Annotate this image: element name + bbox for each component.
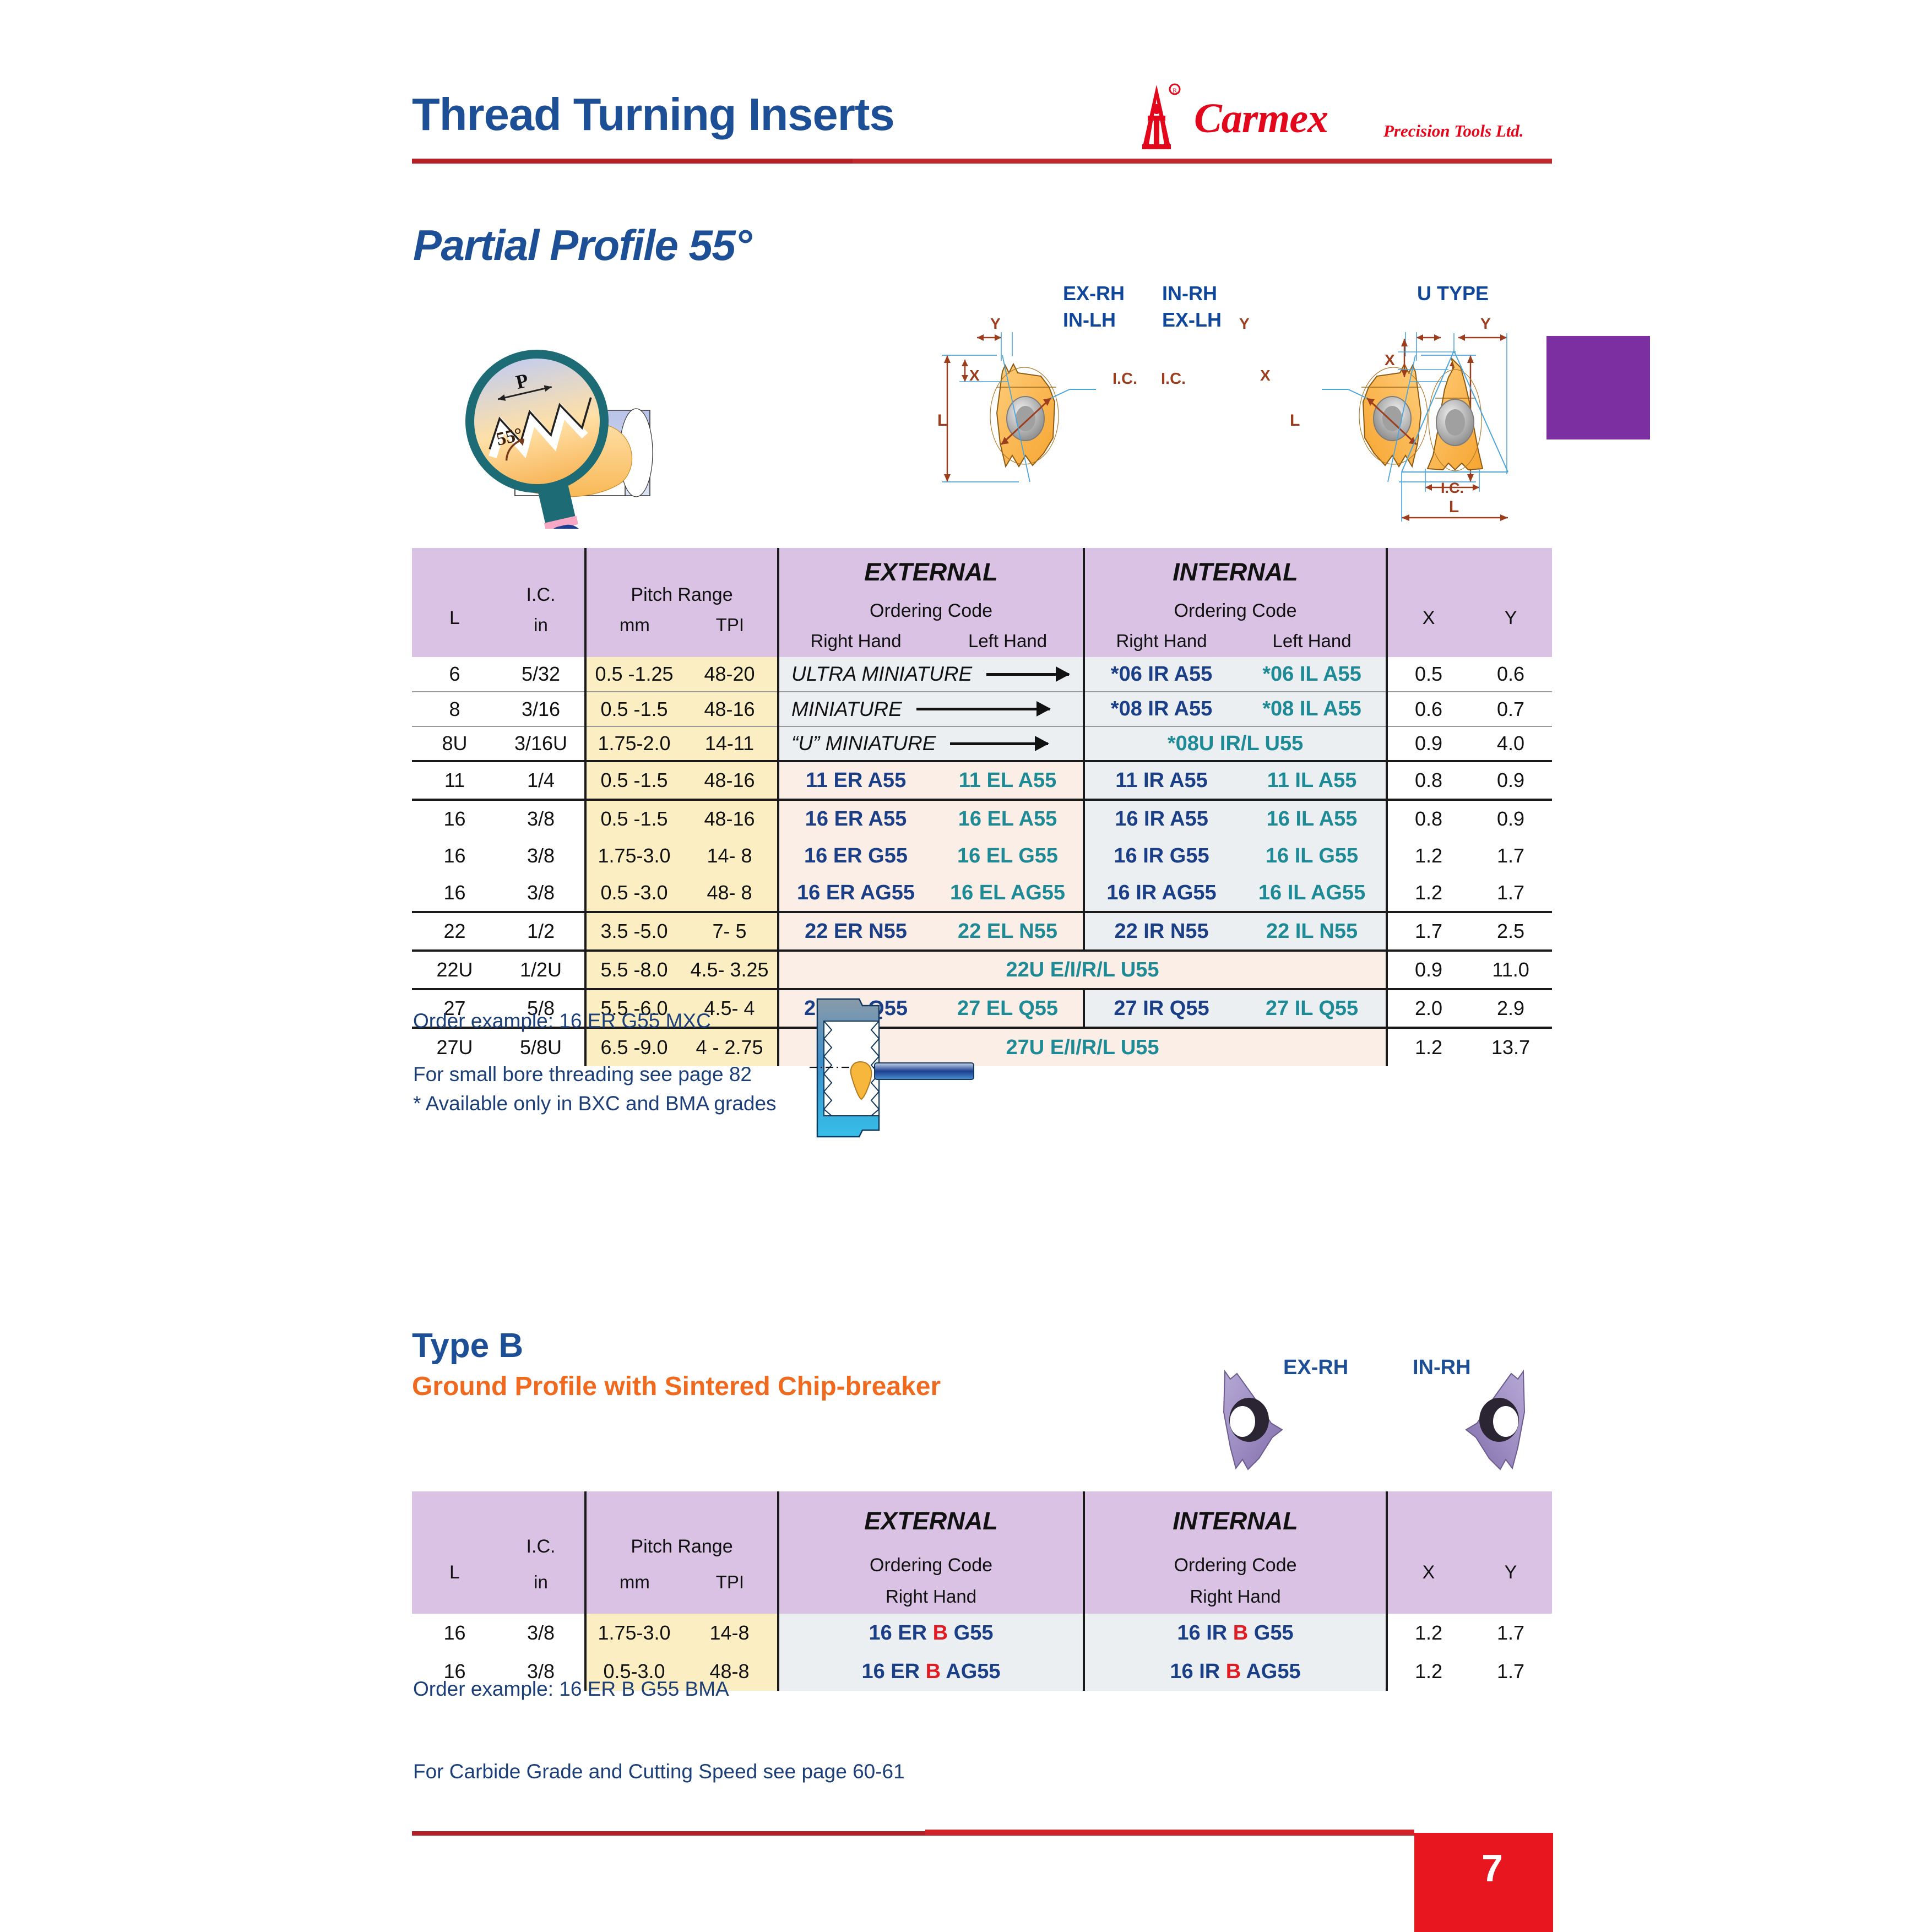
- table-row: 16 3/8 1.75-3.0 14- 8 16 ER G55 16 EL G5…: [412, 837, 1552, 875]
- cell-l: 16: [412, 800, 497, 837]
- svg-text:X: X: [1260, 367, 1271, 384]
- section-title-type-b: Type B: [412, 1326, 523, 1365]
- cell-mm: 6.5 -9.0: [585, 1028, 682, 1066]
- carmex-logo: R Carmex Precision Tools Ltd.: [1124, 83, 1553, 157]
- cell-l: 6: [412, 657, 497, 692]
- cell-tpi: 4 - 2.75: [682, 1028, 778, 1066]
- brand-name: Carmex: [1194, 95, 1328, 143]
- cell-mm: 0.5 -1.5: [585, 800, 682, 837]
- cell-x: 0.5: [1387, 657, 1469, 692]
- svg-text:Y: Y: [990, 315, 1001, 332]
- cell-l: 16: [412, 875, 497, 912]
- th-external: EXTERNAL: [778, 1491, 1084, 1551]
- cell-ic: 5/8U: [497, 1028, 585, 1066]
- svg-text:I.C.: I.C.: [1161, 370, 1186, 388]
- cell-y: 0.9: [1469, 800, 1552, 837]
- cell-tpi: 48-16: [682, 692, 778, 726]
- cell-tpi: 14-8: [682, 1614, 778, 1652]
- cell-ic: 3/16: [497, 692, 585, 726]
- asterisk-note: * Available only in BXC and BMA grades: [413, 1092, 777, 1115]
- cell-tpi: 14-11: [682, 726, 778, 761]
- cell-y: 0.6: [1469, 657, 1552, 692]
- cell-int-rh: 11 IR A55: [1084, 761, 1238, 800]
- table-row: 8 3/16 0.5 -1.5 48-16 MINIATURE *08 IR A…: [412, 692, 1552, 726]
- svg-text:R: R: [1173, 86, 1177, 94]
- section-title-partial-profile: Partial Profile 55°: [413, 220, 751, 270]
- cell-ic: 3/8: [497, 875, 585, 912]
- cell-int-lh: *08 IL A55: [1238, 692, 1387, 726]
- svg-text:L: L: [1449, 498, 1459, 516]
- cell-x: 0.9: [1387, 951, 1469, 989]
- section-subtitle-type-b: Ground Profile with Sintered Chip-breake…: [412, 1371, 941, 1402]
- th-ext-rh: Right Hand: [778, 625, 932, 657]
- th-ext-lh: Left Hand: [932, 625, 1084, 657]
- th-internal-ordering: Ordering Code: [1084, 1551, 1387, 1580]
- table-row: 22 1/2 3.5 -5.0 7- 5 22 ER N55 22 EL N55…: [412, 912, 1552, 951]
- cell-all-full: 22U E/I/R/L U55: [778, 951, 1387, 989]
- th-internal-ordering: Ordering Code: [1084, 596, 1387, 625]
- cell-tpi: 14- 8: [682, 837, 778, 875]
- cell-ic: 1/4: [497, 761, 585, 800]
- cell-int-rh: 16 IR A55: [1084, 800, 1238, 837]
- table-row: 22U 1/2U 5.5 -8.0 4.5- 3.25 22U E/I/R/L …: [412, 951, 1552, 989]
- cell-tpi: 4.5- 3.25: [682, 951, 778, 989]
- table-row: 11 1/4 0.5 -1.5 48-16 11 ER A55 11 EL A5…: [412, 761, 1552, 800]
- bore-threading-illustration: [810, 997, 1041, 1140]
- cell-int-rh: 16 IR AG55: [1084, 875, 1238, 912]
- cell-ic: 3/8: [497, 800, 585, 837]
- cell-y: 0.7: [1469, 692, 1552, 726]
- cell-int-lh: 22 IL N55: [1238, 912, 1387, 951]
- th-l: L: [412, 1491, 497, 1614]
- cell-span-note: “U” MINIATURE: [778, 726, 1084, 761]
- cell-tpi: 48-16: [682, 761, 778, 800]
- th-int-rh: Right Hand: [1084, 625, 1238, 657]
- cell-x: 0.6: [1387, 692, 1469, 726]
- svg-text:Y: Y: [1480, 315, 1491, 332]
- table-row: 16 3/8 0.5 -3.0 48- 8 16 ER AG55 16 EL A…: [412, 875, 1552, 912]
- cell-y: 4.0: [1469, 726, 1552, 761]
- th-ic: I.C. in: [497, 1491, 585, 1614]
- cell-ic: 1/2: [497, 912, 585, 951]
- cell-ext-lh: 11 EL A55: [932, 761, 1084, 800]
- cell-int-lh: *06 IL A55: [1238, 657, 1387, 692]
- cell-int-rh: *08 IR A55: [1084, 692, 1238, 726]
- cell-int-rh: 22 IR N55: [1084, 912, 1238, 951]
- cell-x: 1.2: [1387, 837, 1469, 875]
- insert-dimension-diagrams: I.C. L X Y: [931, 306, 1553, 537]
- cell-mm: 3.5 -5.0: [585, 912, 682, 951]
- cell-span-note: ULTRA MINIATURE: [778, 657, 1084, 692]
- th-ic: I.C. in: [497, 548, 585, 657]
- cell-y: 2.5: [1469, 912, 1552, 951]
- cell-int-lh: 11 IL A55: [1238, 761, 1387, 800]
- cell-tpi: 48-20: [682, 657, 778, 692]
- cell-ic: 3/8: [497, 837, 585, 875]
- cell-l: 16: [412, 837, 497, 875]
- cell-tpi: 48-16: [682, 800, 778, 837]
- brand-subtitle: Precision Tools Ltd.: [1383, 121, 1524, 141]
- cell-y: 1.7: [1469, 1652, 1552, 1691]
- th-l: L: [412, 548, 497, 657]
- cell-ext-rh: 22 ER N55: [778, 912, 932, 951]
- page-title: Thread Turning Inserts: [412, 88, 894, 141]
- svg-text:Y: Y: [1239, 315, 1250, 332]
- cell-l: 8U: [412, 726, 497, 761]
- table-row: 16 3/8 0.5 -1.5 48-16 16 ER A55 16 EL A5…: [412, 800, 1552, 837]
- cell-mm: 0.5 -1.5: [585, 692, 682, 726]
- cell-l: 22U: [412, 951, 497, 989]
- cell-int-rh: 16 IR G55: [1084, 837, 1238, 875]
- cell-mm: 0.5 -1.25: [585, 657, 682, 692]
- cell-ic: 3/8: [497, 1614, 585, 1652]
- cell-x: 0.8: [1387, 761, 1469, 800]
- cell-l: 11: [412, 761, 497, 800]
- header-rule-accent: [853, 159, 1552, 164]
- cell-ic: 3/16U: [497, 726, 585, 761]
- cell-l: 8: [412, 692, 497, 726]
- cell-y: 1.7: [1469, 1614, 1552, 1652]
- cell-tpi: 48- 8: [682, 875, 778, 912]
- cell-x: 1.2: [1387, 1614, 1469, 1652]
- cell-l: 27U: [412, 1028, 497, 1066]
- color-swatch: [1546, 336, 1650, 439]
- insert-photo-in-rh: [1432, 1365, 1542, 1475]
- order-example-note: Order example: 16 ER G55 MXC: [413, 1010, 711, 1033]
- diagram-label-in-rh: IN-RH: [1162, 282, 1217, 305]
- cell-int-rh: 27 IR Q55: [1084, 989, 1238, 1028]
- th-pitch-range: Pitch Range mm TPI: [585, 548, 778, 657]
- table-row: 16 3/8 1.75-3.0 14-8 16 ER B G55 16 IR B…: [412, 1614, 1552, 1652]
- type-b-table: L I.C. in Pitch Range mm TPI EXTERNAL: [412, 1491, 1552, 1691]
- type-b-order-example-note: Order example: 16 ER B G55 BMA: [413, 1678, 729, 1701]
- cell-x: 2.0: [1387, 989, 1469, 1028]
- table-header: L I.C. in Pitch Range mm TPI EXTERNAL: [412, 548, 1552, 657]
- thread-profile-illustration: P 55°: [419, 308, 721, 529]
- svg-text:X: X: [969, 367, 980, 384]
- cell-l: 16: [412, 1614, 497, 1652]
- cell-x: 1.2: [1387, 875, 1469, 912]
- table-row: 6 5/32 0.5 -1.25 48-20 ULTRA MINIATURE *…: [412, 657, 1552, 692]
- cell-span-note: MINIATURE: [778, 692, 1084, 726]
- cell-ic: 5/32: [497, 657, 585, 692]
- cell-int-lh: 16 IL AG55: [1238, 875, 1387, 912]
- cell-ext-rh: 16 ER A55: [778, 800, 932, 837]
- th-pitch-range: Pitch Range mm TPI: [585, 1491, 778, 1614]
- th-x: X: [1387, 1491, 1469, 1614]
- cell-mm: 1.75-3.0: [585, 1614, 682, 1652]
- cell-x: 0.9: [1387, 726, 1469, 761]
- cell-mm: 0.5 -3.0: [585, 875, 682, 912]
- cell-int-full: *08U IR/L U55: [1084, 726, 1387, 761]
- cell-y: 2.9: [1469, 989, 1552, 1028]
- cell-int-rh: 16 IR B AG55: [1084, 1652, 1387, 1691]
- th-external-ordering: Ordering Code: [778, 596, 1084, 625]
- carbide-grade-note: For Carbide Grade and Cutting Speed see …: [413, 1760, 905, 1783]
- cell-mm: 0.5 -1.5: [585, 761, 682, 800]
- svg-text:L: L: [1290, 411, 1300, 430]
- cell-ext-rh: 16 ER AG55: [778, 875, 932, 912]
- cell-y: 1.7: [1469, 837, 1552, 875]
- cell-x: 1.2: [1387, 1028, 1469, 1066]
- cell-ext-lh: 16 EL AG55: [932, 875, 1084, 912]
- cell-l: 22: [412, 912, 497, 951]
- cell-mm: 1.75-2.0: [585, 726, 682, 761]
- svg-text:L: L: [937, 411, 947, 430]
- cell-x: 1.2: [1387, 1652, 1469, 1691]
- svg-text:X: X: [1385, 351, 1395, 368]
- svg-text:I.C.: I.C.: [1441, 480, 1464, 496]
- page-number: 7: [1481, 1846, 1503, 1890]
- th-x: X: [1387, 548, 1469, 657]
- cell-int-lh: 16 IL A55: [1238, 800, 1387, 837]
- cell-ext-lh: 16 EL G55: [932, 837, 1084, 875]
- cell-x: 0.8: [1387, 800, 1469, 837]
- cell-y: 0.9: [1469, 761, 1552, 800]
- cell-x: 1.7: [1387, 912, 1469, 951]
- cell-ext-rh: 16 ER B G55: [778, 1614, 1084, 1652]
- cell-ext-lh: 22 EL N55: [932, 912, 1084, 951]
- cell-int-lh: 16 IL G55: [1238, 837, 1387, 875]
- table-row: 8U 3/16U 1.75-2.0 14-11 “U” MINIATURE *0…: [412, 726, 1552, 761]
- cell-mm: 1.75-3.0: [585, 837, 682, 875]
- diagram-label-ex-rh: EX-RH: [1063, 282, 1125, 305]
- cell-mm: 5.5 -8.0: [585, 951, 682, 989]
- svg-text:I.C.: I.C.: [1112, 370, 1137, 388]
- th-external: EXTERNAL: [778, 548, 1084, 596]
- th-y: Y: [1469, 548, 1552, 657]
- cell-int-rh: *06 IR A55: [1084, 657, 1238, 692]
- cell-int-rh: 16 IR B G55: [1084, 1614, 1387, 1652]
- th-int-lh: Left Hand: [1238, 625, 1387, 657]
- table-header: L I.C. in Pitch Range mm TPI EXTERNAL: [412, 1491, 1552, 1614]
- cell-y: 11.0: [1469, 951, 1552, 989]
- cell-ext-rh: 11 ER A55: [778, 761, 932, 800]
- cell-ext-lh: 16 EL A55: [932, 800, 1084, 837]
- cell-y: 1.7: [1469, 875, 1552, 912]
- th-internal: INTERNAL: [1084, 548, 1387, 596]
- cell-tpi: 7- 5: [682, 912, 778, 951]
- cell-ext-rh: 16 ER B AG55: [778, 1652, 1084, 1691]
- insert-photo-ex-rh: [1206, 1365, 1316, 1475]
- th-external-ordering: Ordering Code: [778, 1551, 1084, 1580]
- small-bore-note: For small bore threading see page 82: [413, 1063, 752, 1086]
- th-ext-rh: Right Hand: [778, 1580, 1084, 1614]
- catalog-page: Thread Turning Inserts R Carmex Precisio…: [0, 0, 1932, 1932]
- th-internal: INTERNAL: [1084, 1491, 1387, 1551]
- cell-ic: 1/2U: [497, 951, 585, 989]
- cell-ext-rh: 16 ER G55: [778, 837, 932, 875]
- footer-rule-accent: [925, 1830, 1414, 1835]
- cell-y: 13.7: [1469, 1028, 1552, 1066]
- cell-int-lh: 27 IL Q55: [1238, 989, 1387, 1028]
- th-y: Y: [1469, 1491, 1552, 1614]
- th-int-rh: Right Hand: [1084, 1580, 1387, 1614]
- carmex-logo-mark: R: [1124, 83, 1190, 157]
- diagram-label-u-type: U TYPE: [1417, 282, 1489, 305]
- partial-profile-table: L I.C. in Pitch Range mm TPI EXTERNAL: [412, 548, 1552, 1066]
